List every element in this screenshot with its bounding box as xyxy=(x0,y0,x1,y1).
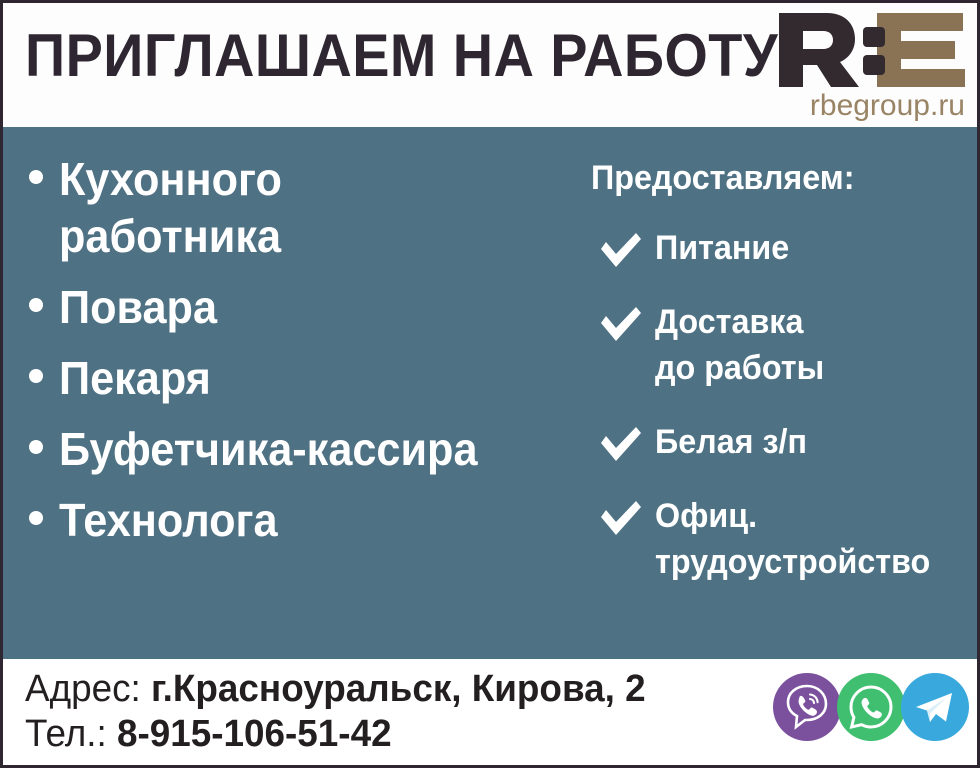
viber-icon[interactable] xyxy=(771,671,843,743)
footer-band: Адрес: г.Красноуральск, Кирова, 2 Тел.: … xyxy=(3,659,977,765)
job-positions-list: Кухонного работника Повара Пекаря Буфетч… xyxy=(3,127,583,659)
list-item: Технолога xyxy=(17,492,583,549)
bullet-dot-icon xyxy=(29,511,43,525)
company-logo-block: rbegroup.ru xyxy=(773,9,969,121)
phone-line: Тел.: 8-915-106-51-42 xyxy=(25,712,762,757)
check-icon xyxy=(599,231,643,269)
list-item: Пекаря xyxy=(17,350,583,407)
logo-website-url: rbegroup.ru xyxy=(773,89,969,123)
benefits-heading: Предоставляем: xyxy=(591,159,958,197)
header-band: ПРИГЛАШАЕМ НА РАБОТУ rbegroup.ru xyxy=(3,3,977,127)
list-item: Доставка до работы xyxy=(583,299,977,391)
phone-label: Тел.: xyxy=(25,713,107,755)
benefit-label: Питание xyxy=(655,225,789,271)
whatsapp-icon[interactable] xyxy=(835,671,907,743)
social-icons-group xyxy=(779,671,971,743)
list-item: Офиц. трудоустройство xyxy=(583,493,977,585)
list-item: Буфетчика-кассира xyxy=(17,421,583,478)
list-item: Повара xyxy=(17,279,583,336)
benefits-section: Предоставляем: Питание Доставка до работ… xyxy=(583,127,977,659)
check-icon xyxy=(599,305,643,343)
job-advertisement-poster: ПРИГЛАШАЕМ НА РАБОТУ rbegroup.ru К xyxy=(0,0,980,768)
job-position-label: Буфетчика-кассира xyxy=(59,421,478,478)
list-item: Питание xyxy=(583,225,977,271)
benefit-label: Доставка до работы xyxy=(655,299,824,391)
job-position-label: Повара xyxy=(59,279,217,336)
job-position-label: Технолога xyxy=(59,492,278,549)
main-panel: Кухонного работника Повара Пекаря Буфетч… xyxy=(3,127,977,659)
address-line: Адрес: г.Красноуральск, Кирова, 2 xyxy=(25,667,762,712)
list-item: Белая з/п xyxy=(583,419,977,465)
address-label: Адрес: xyxy=(25,668,141,710)
bullet-dot-icon xyxy=(29,298,43,312)
job-position-label: Пекаря xyxy=(59,350,211,407)
list-item: Кухонного работника xyxy=(17,151,583,265)
contact-info: Адрес: г.Красноуральск, Кирова, 2 Тел.: … xyxy=(25,667,785,757)
bullet-dot-icon xyxy=(29,369,43,383)
benefit-label: Офиц. трудоустройство xyxy=(655,493,930,585)
bullet-dot-icon xyxy=(29,440,43,454)
phone-value[interactable]: 8-915-106-51-42 xyxy=(117,713,392,755)
job-position-label: Кухонного работника xyxy=(59,151,282,265)
check-icon xyxy=(599,425,643,463)
telegram-icon[interactable] xyxy=(899,671,971,743)
check-icon xyxy=(599,499,643,537)
rbe-logo-icon xyxy=(773,9,969,89)
page-title: ПРИГЛАШАЕМ НА РАБОТУ xyxy=(25,25,778,87)
benefit-label: Белая з/п xyxy=(655,419,807,465)
address-value: г.Красноуральск, Кирова, 2 xyxy=(151,668,646,710)
bullet-dot-icon xyxy=(29,170,43,184)
